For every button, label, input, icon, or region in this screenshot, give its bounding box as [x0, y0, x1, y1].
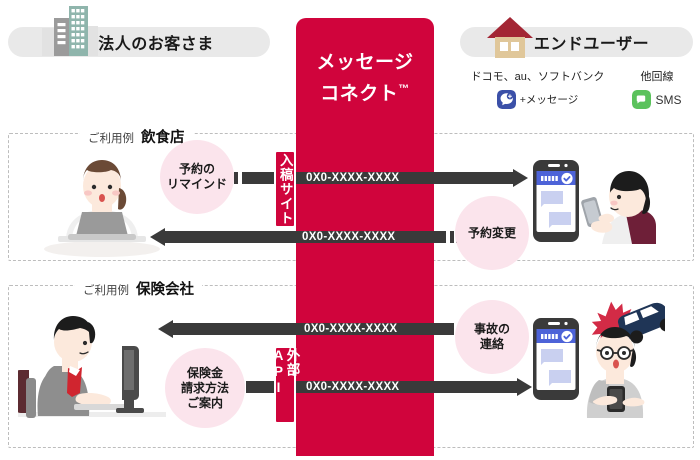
house-icon [486, 16, 534, 58]
arrow-number-inbound-insurance: 0X0-XXXX-XXXX [304, 320, 397, 338]
carrier-caption: 他回線 [617, 68, 697, 84]
bubble-insurance-claim-guide: 保険金 請求方法 ご案内 [165, 348, 245, 428]
submission-site-tag: 入稿サイト [274, 150, 296, 228]
bubble-line: 予約の [167, 162, 227, 177]
sms-app-label: SMS [655, 93, 681, 107]
arrow-inbound-insurance: 0X0-XXXX-XXXX [158, 320, 468, 338]
arrow-number-inbound-restaurant: 0X0-XXXX-XXXX [302, 228, 395, 246]
smartphone-illustration [533, 318, 579, 400]
arrow-number-outbound-restaurant: 0X0-XXXX-XXXX [306, 169, 399, 187]
bubble-accident-report: 事故の 連絡 [455, 300, 529, 374]
diagram-canvas: メッセージ コネクト™ 法人のお客さま エンドユーザー [0, 0, 700, 460]
bubble-line: 連絡 [474, 337, 510, 352]
bubble-line: 保険金 [181, 366, 229, 381]
arrow-outbound-restaurant: 0X0-XXXX-XXXX [228, 169, 528, 187]
plus-message-app-icon [497, 90, 516, 109]
sms-app-icon [632, 90, 651, 109]
bubble-reservation-change: 予約変更 [455, 196, 529, 270]
restaurant-staff-at-laptop-illustration [42, 148, 162, 258]
smartphone-illustration [533, 160, 579, 242]
bubble-line: 事故の [474, 322, 510, 337]
arrow-inbound-restaurant: 0X0-XXXX-XXXX [150, 228, 460, 246]
arrow-number-outbound-insurance: 0X0-XXXX-XXXX [306, 378, 399, 396]
bubble-reservation-reminder: 予約の リマインド [160, 140, 234, 214]
example-caption-big: 保険会社 [136, 278, 194, 299]
carrier-group-plus-message: ドコモ、au、ソフトバンク +メッセージ [455, 68, 620, 109]
businessman-at-desktop-pc-illustration [18, 308, 166, 426]
example-title-restaurant: ご利用例 飲食店 [80, 126, 193, 147]
bubble-line: 予約変更 [468, 226, 516, 241]
bubble-line: リマインド [167, 177, 227, 192]
plus-message-app-label: +メッセージ [520, 92, 578, 107]
woman-with-smartphone-illustration [578, 168, 656, 244]
external-api-tag: 外部API [274, 346, 296, 424]
bubble-line: ご案内 [181, 396, 229, 411]
man-with-glasses-smartphone-and-car-accident-illustration [575, 300, 665, 418]
example-caption-small: ご利用例 [83, 282, 129, 298]
bubble-line: 請求方法 [181, 381, 229, 396]
office-building-icon [42, 4, 98, 56]
example-caption-small: ご利用例 [88, 130, 134, 146]
example-title-insurance: ご利用例 保険会社 [75, 278, 202, 299]
carrier-caption: ドコモ、au、ソフトバンク [455, 68, 620, 84]
carrier-group-sms: 他回線 SMS [617, 68, 697, 109]
